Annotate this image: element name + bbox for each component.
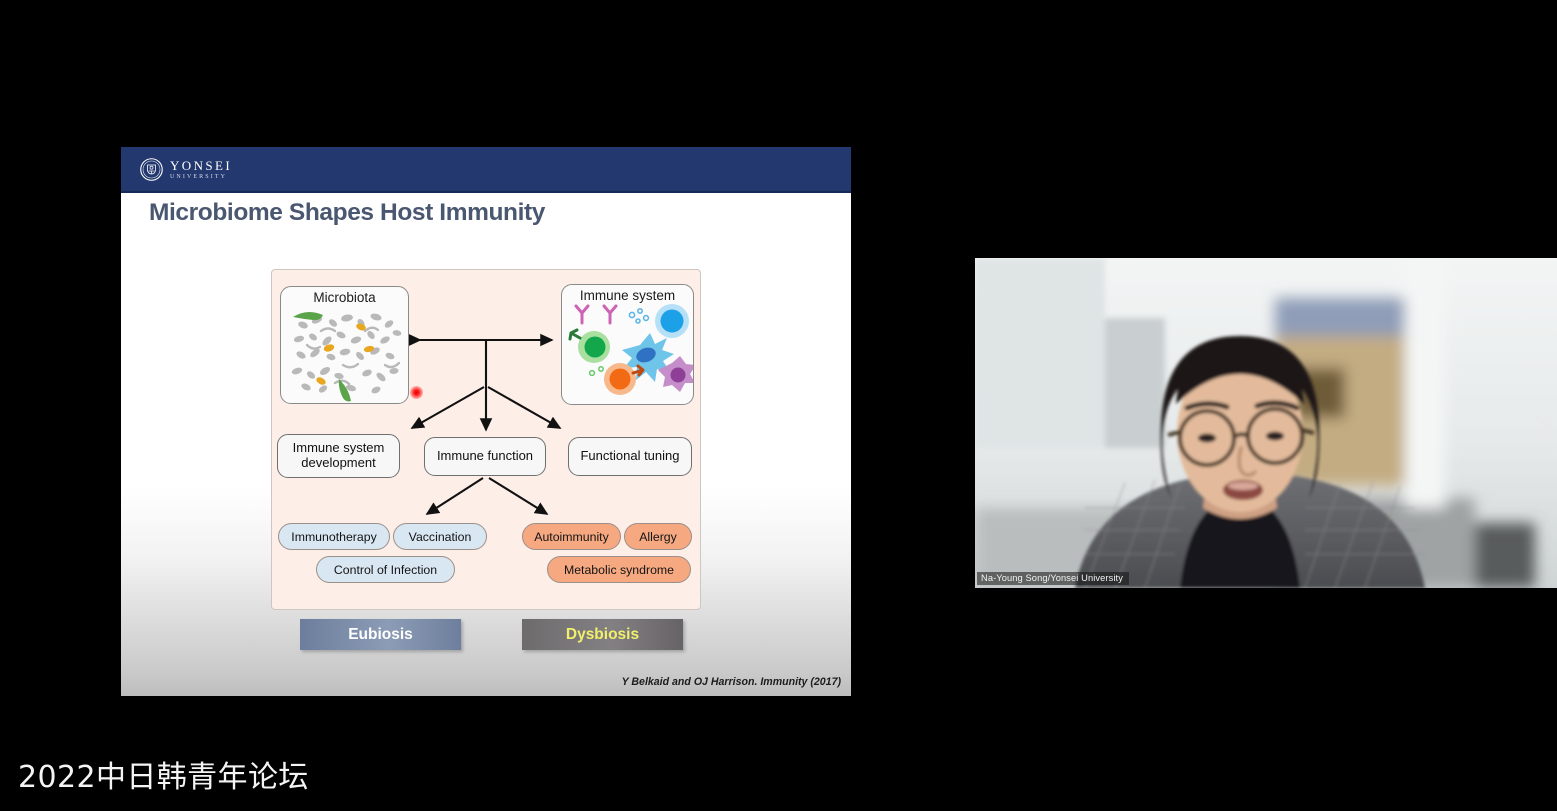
event-title: 2022中日韩青年论坛 <box>18 752 309 796</box>
node-immune-system-development: Immune system development <box>277 434 400 478</box>
state-bar-dysbiosis: Dysbiosis <box>522 619 683 650</box>
panel-microbiota-label: Microbiota <box>281 290 408 305</box>
participant-name-badge: Na-Young Song/Yonsei University <box>977 572 1129 585</box>
immunity-diagram: Microbiota <box>271 269 701 610</box>
slide-header-band: YONSEI UNIVERSITY <box>121 147 851 193</box>
pill-immunotherapy: Immunotherapy <box>278 523 390 550</box>
screen-root: YONSEI UNIVERSITY Microbiome Shapes Host… <box>0 0 1557 811</box>
node-functional-tuning: Functional tuning <box>568 437 692 476</box>
pill-autoimmunity: Autoimmunity <box>522 523 621 550</box>
yonsei-logo: YONSEI UNIVERSITY <box>140 158 232 181</box>
logo-wordmark: YONSEI <box>170 159 232 172</box>
video-frame <box>975 258 1557 588</box>
panel-immune-system-label: Immune system <box>562 288 693 303</box>
pill-metabolic-syndrome: Metabolic syndrome <box>547 556 691 583</box>
pill-allergy: Allergy <box>624 523 692 550</box>
panel-immune-system: Immune system <box>561 284 694 405</box>
state-bar-eubiosis: Eubiosis <box>300 619 461 650</box>
node-immune-function: Immune function <box>424 437 546 476</box>
presentation-slide: YONSEI UNIVERSITY Microbiome Shapes Host… <box>121 147 851 696</box>
immune-system-illustration <box>562 285 694 405</box>
laser-pointer-dot-icon <box>410 386 423 399</box>
video-participant-tile[interactable]: Na-Young Song/Yonsei University <box>975 258 1557 588</box>
pill-control-of-infection: Control of Infection <box>316 556 455 583</box>
chevron-right-icon[interactable] <box>1531 413 1553 441</box>
slide-title: Microbiome Shapes Host Immunity <box>149 199 545 227</box>
panel-microbiota: Microbiota <box>280 286 409 404</box>
pill-vaccination: Vaccination <box>393 523 487 550</box>
yonsei-seal-icon <box>140 158 163 181</box>
logo-subtitle: UNIVERSITY <box>170 174 232 180</box>
slide-citation: Y Belkaid and OJ Harrison. Immunity (201… <box>622 676 841 688</box>
